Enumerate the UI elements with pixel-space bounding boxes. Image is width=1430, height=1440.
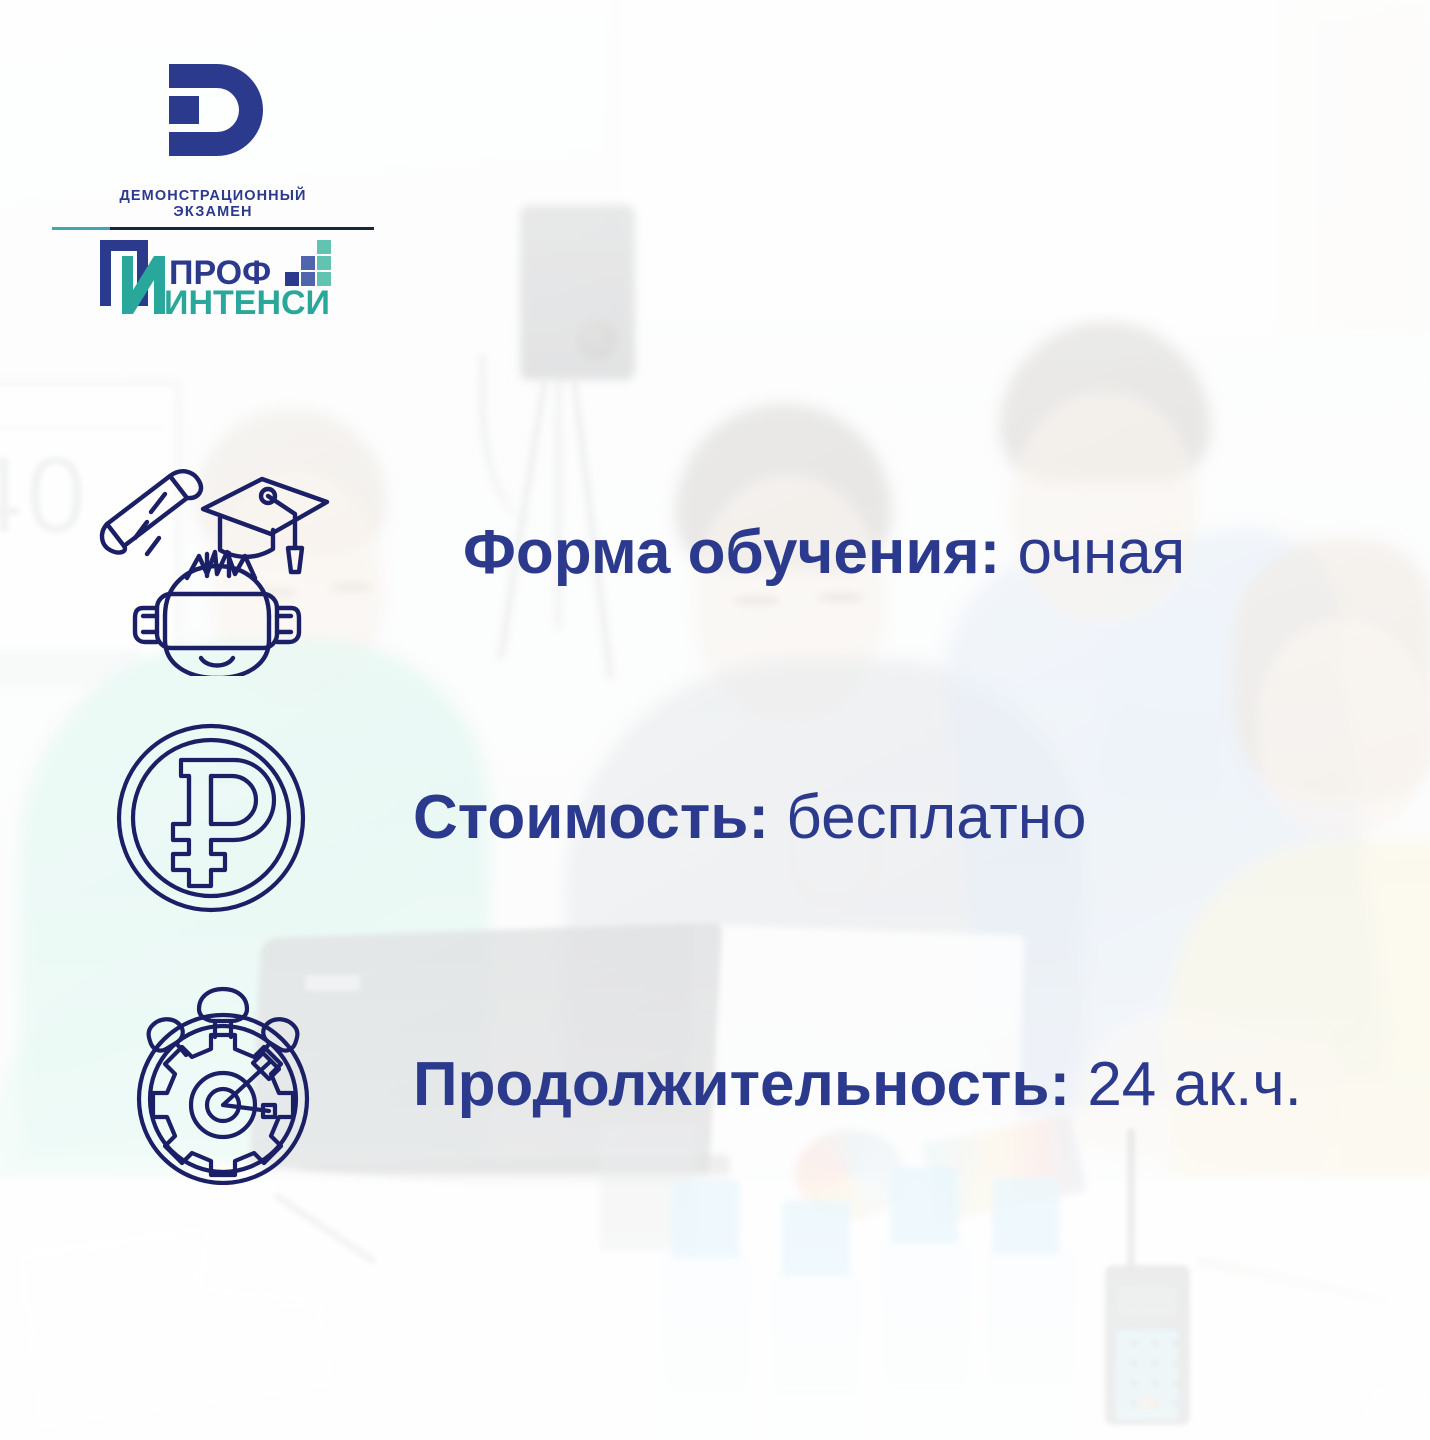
info-row-duration-value: 24 ак.ч. [1087,1050,1302,1119]
info-row-duration-label: Продолжительность: [413,1050,1087,1119]
info-row-price: Стоимость: бесплатно [95,718,1087,918]
info-row-duration: Продолжительность: 24 ак.ч. [95,985,1302,1185]
info-row-price-label: Стоимость: [413,783,786,852]
info-rows: Форма обучения: очная Стоимость: бесплат… [0,0,1430,1440]
info-row-price-value: бесплатно [786,783,1086,852]
info-row-form: Форма обучения: очная [95,430,1185,676]
graduate-vr-icon [95,426,345,676]
stopwatch-gear-icon [123,985,323,1185]
info-row-price-text: Стоимость: бесплатно [413,787,1087,849]
info-row-duration-text: Продолжительность: 24 ак.ч. [413,1054,1302,1116]
info-poster: 40 [0,0,1430,1440]
info-row-form-label: Форма обучения: [463,518,1018,587]
info-row-form-value: очная [1018,518,1186,587]
ruble-coin-icon [111,718,311,918]
info-row-form-text: Форма обучения: очная [463,522,1185,584]
